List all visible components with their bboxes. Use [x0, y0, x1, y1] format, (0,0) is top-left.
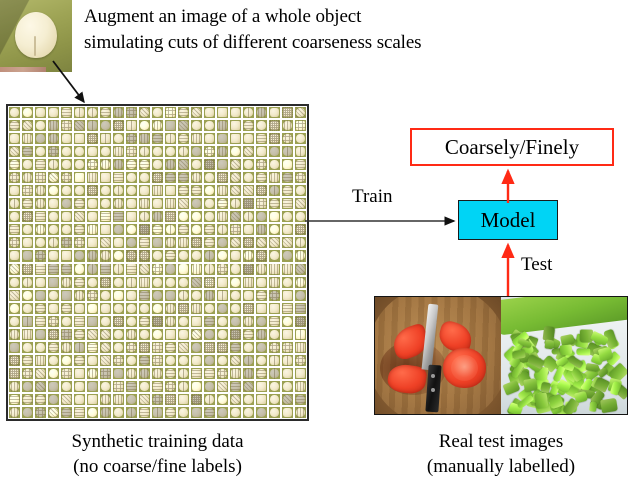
synthetic-sample-cell [60, 276, 73, 289]
synthetic-sample-cell [281, 158, 294, 171]
synthetic-cut-pattern [282, 107, 293, 118]
synthetic-cut-pattern [61, 368, 72, 379]
synthetic-cut-pattern [9, 159, 20, 170]
synthetic-cut-pattern [295, 394, 306, 405]
synthetic-cut-pattern [256, 277, 267, 288]
synthetic-sample-cell [229, 406, 242, 419]
synthetic-cut-pattern [191, 407, 202, 418]
synthetic-sample-cell [294, 341, 307, 354]
synthetic-cut-pattern [100, 342, 111, 353]
synthetic-cut-pattern [126, 355, 137, 366]
synthetic-cut-pattern [139, 172, 150, 183]
synthetic-sample-cell [99, 302, 112, 315]
synthetic-cut-pattern [100, 198, 111, 209]
synthetic-sample-cell [112, 132, 125, 145]
synthetic-sample-cell [268, 341, 281, 354]
synthetic-cut-pattern [100, 250, 111, 261]
synthetic-sample-cell [21, 302, 34, 315]
synthetic-sample-cell [21, 315, 34, 328]
synthetic-cut-pattern [113, 198, 124, 209]
synthetic-cut-pattern [61, 316, 72, 327]
synthetic-sample-cell [8, 276, 21, 289]
synthetic-cut-pattern [191, 277, 202, 288]
whole-object-shape [15, 12, 57, 58]
synthetic-sample-cell [8, 236, 21, 249]
synthetic-cut-pattern [191, 146, 202, 157]
synthetic-sample-cell [47, 276, 60, 289]
synthetic-sample-cell [125, 341, 138, 354]
synthetic-sample-cell [21, 354, 34, 367]
synthetic-sample-cell [99, 367, 112, 380]
real-test-images-panel [374, 296, 628, 415]
synthetic-sample-cell [190, 354, 203, 367]
synthetic-cut-pattern [74, 290, 85, 301]
synthetic-cut-pattern [9, 185, 20, 196]
synthetic-cut-pattern [74, 303, 85, 314]
synthetic-sample-cell [242, 210, 255, 223]
synthetic-cut-pattern [126, 237, 137, 248]
synthetic-sample-cell [177, 289, 190, 302]
synthetic-sample-cell [190, 289, 203, 302]
synthetic-cut-pattern [152, 329, 163, 340]
synthetic-sample-cell [164, 223, 177, 236]
synthetic-sample-cell [34, 223, 47, 236]
synthetic-thumbnail-grid [8, 106, 307, 419]
synthetic-cut-pattern [165, 290, 176, 301]
model-box[interactable]: Model [458, 200, 558, 240]
synthetic-cut-pattern [256, 290, 267, 301]
synthetic-sample-cell [281, 380, 294, 393]
synthetic-sample-cell [34, 328, 47, 341]
synthetic-sample-cell [73, 132, 86, 145]
synthetic-cut-pattern [48, 290, 59, 301]
synthetic-sample-cell [255, 210, 268, 223]
synthetic-sample-cell [125, 315, 138, 328]
synthetic-sample-cell [8, 380, 21, 393]
synthetic-sample-cell [21, 184, 34, 197]
synthetic-sample-cell [177, 210, 190, 223]
synthetic-cut-pattern [295, 342, 306, 353]
synthetic-cut-pattern [217, 277, 228, 288]
synthetic-sample-cell [99, 276, 112, 289]
synthetic-cut-pattern [243, 107, 254, 118]
synthetic-cut-pattern [256, 303, 267, 314]
synthetic-cut-pattern [139, 107, 150, 118]
synthetic-cut-pattern [35, 107, 46, 118]
synthetic-sample-cell [151, 236, 164, 249]
synthetic-cut-pattern [22, 329, 33, 340]
synthetic-cut-pattern [282, 250, 293, 261]
synthetic-sample-cell [203, 302, 216, 315]
synthetic-sample-cell [125, 393, 138, 406]
synthetic-sample-cell [112, 393, 125, 406]
synthetic-sample-cell [60, 184, 73, 197]
synthetic-sample-cell [216, 354, 229, 367]
synthetic-sample-cell [177, 263, 190, 276]
synthetic-sample-cell [47, 302, 60, 315]
synthetic-cut-pattern [48, 277, 59, 288]
synthetic-cut-pattern [217, 342, 228, 353]
synthetic-sample-cell [255, 393, 268, 406]
synthetic-sample-cell [125, 236, 138, 249]
celery-piece [535, 392, 549, 409]
synthetic-sample-cell [281, 132, 294, 145]
synthetic-sample-cell [216, 367, 229, 380]
synthetic-sample-cell [268, 145, 281, 158]
synthetic-cut-pattern [61, 146, 72, 157]
synthetic-cut-pattern [113, 107, 124, 118]
synthetic-sample-cell [86, 302, 99, 315]
synthetic-cut-pattern [178, 120, 189, 131]
synthetic-sample-cell [47, 289, 60, 302]
synthetic-cut-pattern [22, 277, 33, 288]
synthetic-cut-pattern [100, 381, 111, 392]
synthetic-cut-pattern [217, 237, 228, 248]
synthetic-sample-cell [216, 119, 229, 132]
synthetic-sample-cell [203, 263, 216, 276]
synthetic-cut-pattern [256, 159, 267, 170]
synthetic-cut-pattern [243, 394, 254, 405]
synthetic-sample-cell [229, 328, 242, 341]
synthetic-sample-cell [86, 106, 99, 119]
synthetic-cut-pattern [191, 172, 202, 183]
synthetic-sample-cell [112, 263, 125, 276]
synthetic-sample-cell [242, 341, 255, 354]
synthetic-cut-pattern [100, 355, 111, 366]
synthetic-sample-cell [229, 393, 242, 406]
synthetic-cut-pattern [204, 316, 215, 327]
synthetic-cut-pattern [139, 237, 150, 248]
synthetic-sample-cell [125, 132, 138, 145]
synthetic-sample-cell [177, 249, 190, 262]
synthetic-sample-cell [177, 236, 190, 249]
synthetic-cut-pattern [74, 146, 85, 157]
synthetic-cut-pattern [126, 368, 137, 379]
synthetic-sample-cell [190, 171, 203, 184]
synthetic-sample-cell [177, 119, 190, 132]
synthetic-cut-pattern [126, 120, 137, 131]
synthetic-sample-cell [255, 249, 268, 262]
synthetic-sample-cell [73, 184, 86, 197]
synthetic-sample-cell [242, 249, 255, 262]
synthetic-cut-pattern [204, 277, 215, 288]
synthetic-sample-cell [294, 263, 307, 276]
synthetic-cut-pattern [204, 159, 215, 170]
thumbnail-pink-strip [0, 67, 46, 72]
synthetic-sample-cell [112, 367, 125, 380]
synthetic-cut-pattern [295, 198, 306, 209]
tomato-half [443, 348, 486, 388]
synthetic-cut-pattern [165, 355, 176, 366]
synthetic-sample-cell [60, 223, 73, 236]
synthetic-sample-cell [138, 341, 151, 354]
synthetic-cut-pattern [217, 407, 228, 418]
synthetic-cut-pattern [243, 211, 254, 222]
synthetic-sample-cell [34, 354, 47, 367]
synthetic-cut-pattern [22, 342, 33, 353]
synthetic-cut-pattern [269, 355, 280, 366]
synthetic-sample-cell [164, 210, 177, 223]
synthetic-cut-pattern [230, 146, 241, 157]
synthetic-sample-cell [125, 210, 138, 223]
synthetic-sample-cell [8, 158, 21, 171]
synthetic-sample-cell [112, 106, 125, 119]
synthetic-cut-pattern [152, 407, 163, 418]
synthetic-cut-pattern [269, 146, 280, 157]
synthetic-cut-pattern [165, 368, 176, 379]
synthetic-cut-pattern [9, 303, 20, 314]
synthetic-sample-cell [281, 223, 294, 236]
synthetic-sample-cell [138, 380, 151, 393]
synthetic-sample-cell [294, 354, 307, 367]
synthetic-sample-cell [8, 145, 21, 158]
synthetic-cut-pattern [204, 394, 215, 405]
synthetic-cut-pattern [256, 368, 267, 379]
synthetic-cut-pattern [100, 185, 111, 196]
synthetic-cut-pattern [243, 159, 254, 170]
synthetic-sample-cell [138, 210, 151, 223]
synthetic-sample-cell [151, 158, 164, 171]
synthetic-sample-cell [99, 106, 112, 119]
synthetic-sample-cell [73, 119, 86, 132]
synthetic-sample-cell [112, 249, 125, 262]
synthetic-sample-cell [99, 171, 112, 184]
synthetic-sample-cell [47, 249, 60, 262]
synthetic-cut-pattern [243, 198, 254, 209]
synthetic-cut-pattern [178, 290, 189, 301]
synthetic-sample-cell [21, 276, 34, 289]
synthetic-cut-pattern [282, 368, 293, 379]
synthetic-sample-cell [164, 315, 177, 328]
train-arrow-icon [305, 210, 463, 232]
synthetic-sample-cell [151, 367, 164, 380]
synthetic-sample-cell [255, 380, 268, 393]
synthetic-cut-pattern [9, 277, 20, 288]
synthetic-cut-pattern [243, 368, 254, 379]
synthetic-cut-pattern [100, 224, 111, 235]
synthetic-cut-pattern [126, 224, 137, 235]
synthetic-sample-cell [86, 171, 99, 184]
synthetic-cut-pattern [35, 250, 46, 261]
synthetic-cut-pattern [87, 198, 98, 209]
synthetic-cut-pattern [295, 159, 306, 170]
synthetic-cut-pattern [191, 329, 202, 340]
synthetic-cut-pattern [152, 355, 163, 366]
synthetic-sample-cell [255, 406, 268, 419]
synthetic-sample-cell [112, 158, 125, 171]
synthetic-sample-cell [229, 276, 242, 289]
synthetic-cut-pattern [243, 381, 254, 392]
synthetic-cut-pattern [230, 250, 241, 261]
synthetic-sample-cell [164, 184, 177, 197]
synthetic-cut-pattern [191, 355, 202, 366]
synthetic-cut-pattern [178, 303, 189, 314]
synthetic-cut-pattern [230, 211, 241, 222]
synthetic-cut-pattern [139, 133, 150, 144]
synthetic-cut-pattern [87, 146, 98, 157]
synthetic-cut-pattern [256, 172, 267, 183]
synthetic-sample-cell [125, 354, 138, 367]
synthetic-cut-pattern [295, 250, 306, 261]
synthetic-cut-pattern [217, 394, 228, 405]
synthetic-sample-cell [268, 380, 281, 393]
synthetic-cut-pattern [243, 237, 254, 248]
synthetic-cut-pattern [282, 303, 293, 314]
synthetic-sample-cell [86, 132, 99, 145]
synthetic-sample-cell [8, 406, 21, 419]
synthetic-cut-pattern [35, 198, 46, 209]
synthetic-cut-pattern [87, 277, 98, 288]
synthetic-cut-pattern [9, 146, 20, 157]
synthetic-cut-pattern [204, 407, 215, 418]
synthetic-cut-pattern [204, 290, 215, 301]
synthetic-cut-pattern [139, 277, 150, 288]
synthetic-sample-cell [86, 393, 99, 406]
synthetic-sample-cell [177, 393, 190, 406]
synthetic-sample-cell [8, 263, 21, 276]
synthetic-sample-cell [8, 393, 21, 406]
synthetic-sample-cell [203, 171, 216, 184]
synthetic-cut-pattern [113, 250, 124, 261]
synthetic-sample-cell [190, 236, 203, 249]
synthetic-cut-pattern [282, 224, 293, 235]
synthetic-sample-cell [21, 223, 34, 236]
synthetic-sample-cell [190, 249, 203, 262]
synthetic-cut-pattern [100, 316, 111, 327]
synthetic-cut-pattern [22, 394, 33, 405]
synthetic-sample-cell [229, 249, 242, 262]
synthetic-sample-cell [190, 302, 203, 315]
synthetic-sample-cell [86, 184, 99, 197]
synthetic-cut-pattern [74, 277, 85, 288]
synthetic-cut-pattern [282, 277, 293, 288]
synthetic-sample-cell [34, 210, 47, 223]
synthetic-cut-pattern [152, 250, 163, 261]
synthetic-cut-pattern [74, 316, 85, 327]
synthetic-cut-pattern [282, 198, 293, 209]
synthetic-sample-cell [177, 158, 190, 171]
synthetic-cut-pattern [48, 159, 59, 170]
synthetic-sample-cell [73, 158, 86, 171]
synthetic-sample-cell [281, 328, 294, 341]
synthetic-cut-pattern [295, 237, 306, 248]
synthetic-sample-cell [229, 380, 242, 393]
synthetic-sample-cell [177, 106, 190, 119]
synthetic-cut-pattern [165, 107, 176, 118]
synthetic-cut-pattern [217, 185, 228, 196]
synthetic-sample-cell [151, 315, 164, 328]
synthetic-sample-cell [138, 106, 151, 119]
synthetic-cut-pattern [295, 211, 306, 222]
synthetic-sample-cell [151, 210, 164, 223]
synthetic-cut-pattern [22, 120, 33, 131]
synthetic-sample-cell [190, 106, 203, 119]
synthetic-cut-pattern [139, 224, 150, 235]
synthetic-cut-pattern [100, 290, 111, 301]
synthetic-sample-cell [190, 315, 203, 328]
synthetic-cut-pattern [217, 290, 228, 301]
synthetic-sample-cell [242, 236, 255, 249]
synthetic-sample-cell [164, 406, 177, 419]
synthetic-cut-pattern [191, 159, 202, 170]
synthetic-sample-cell [281, 341, 294, 354]
synthetic-cut-pattern [87, 342, 98, 353]
synthetic-cut-pattern [282, 159, 293, 170]
synthetic-cut-pattern [204, 198, 215, 209]
synthetic-sample-cell [151, 354, 164, 367]
synthetic-sample-cell [242, 367, 255, 380]
synthetic-cut-pattern [126, 394, 137, 405]
synthetic-sample-cell [151, 406, 164, 419]
synthetic-sample-cell [8, 184, 21, 197]
synthetic-sample-cell [8, 341, 21, 354]
synthetic-sample-cell [60, 380, 73, 393]
synthetic-cut-pattern [61, 342, 72, 353]
real-test-images-caption: Real test images (manually labelled) [374, 430, 628, 479]
synthetic-cut-pattern [9, 264, 20, 275]
synthetic-cut-pattern [243, 277, 254, 288]
synthetic-cut-pattern [178, 107, 189, 118]
synthetic-sample-cell [294, 223, 307, 236]
synthetic-sample-cell [21, 158, 34, 171]
synthetic-cut-pattern [256, 146, 267, 157]
synthetic-sample-cell [216, 197, 229, 210]
synthetic-sample-cell [99, 184, 112, 197]
synthetic-cut-pattern [126, 159, 137, 170]
synthetic-sample-cell [229, 197, 242, 210]
synthetic-cut-pattern [295, 224, 306, 235]
synthetic-sample-cell [203, 106, 216, 119]
synthetic-sample-cell [164, 393, 177, 406]
synthetic-sample-cell [21, 236, 34, 249]
synthetic-sample-cell [112, 380, 125, 393]
synthetic-sample-cell [216, 223, 229, 236]
synthetic-sample-cell [8, 328, 21, 341]
prediction-result-box[interactable]: Coarsely/Finely [410, 128, 614, 166]
synthetic-cut-pattern [48, 120, 59, 131]
synthetic-cut-pattern [35, 355, 46, 366]
synthetic-sample-cell [294, 328, 307, 341]
synthetic-cut-pattern [100, 159, 111, 170]
synthetic-sample-cell [99, 223, 112, 236]
synthetic-cut-pattern [152, 381, 163, 392]
synthetic-sample-cell [177, 341, 190, 354]
synthetic-cut-pattern [87, 237, 98, 248]
synthetic-cut-pattern [87, 107, 98, 118]
synthetic-sample-cell [268, 106, 281, 119]
synthetic-cut-pattern [256, 198, 267, 209]
synthetic-sample-cell [281, 289, 294, 302]
synthetic-sample-cell [34, 367, 47, 380]
synthetic-cut-pattern [282, 407, 293, 418]
synthetic-cut-pattern [256, 250, 267, 261]
synthetic-cut-pattern [204, 250, 215, 261]
synthetic-cut-pattern [191, 133, 202, 144]
synthetic-sample-cell [73, 406, 86, 419]
synthetic-cut-pattern [165, 394, 176, 405]
synthetic-sample-cell [125, 302, 138, 315]
synthetic-cut-pattern [295, 185, 306, 196]
synthetic-cut-pattern [48, 224, 59, 235]
synthetic-cut-pattern [282, 316, 293, 327]
synthetic-sample-cell [255, 341, 268, 354]
synthetic-cut-pattern [9, 211, 20, 222]
synthetic-sample-cell [203, 367, 216, 380]
synthetic-cut-pattern [269, 133, 280, 144]
synthetic-cut-pattern [178, 185, 189, 196]
synthetic-cut-pattern [282, 381, 293, 392]
synthetic-cut-pattern [191, 185, 202, 196]
